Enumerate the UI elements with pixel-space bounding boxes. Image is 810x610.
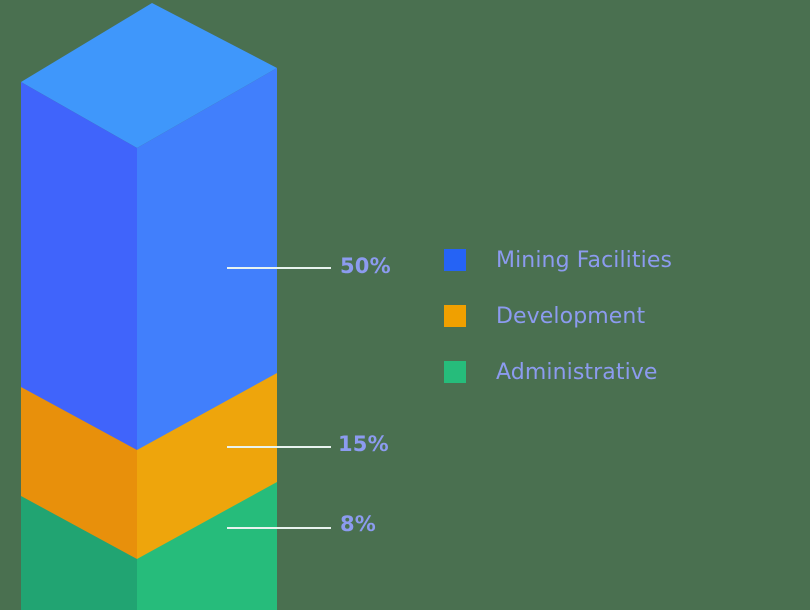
chart-canvas: 50% 15% 8% Mining Facilities Development… [0,0,810,610]
value-label-mining-facilities: 50% [340,254,391,278]
bar-segment-mining-facilities[interactable] [21,3,277,450]
legend-swatch-icon-administrative [444,361,466,383]
legend-item-mining-facilities[interactable]: Mining Facilities [444,232,672,288]
legend-item-development[interactable]: Development [444,288,672,344]
stacked-3d-bar-graphic [0,0,810,610]
legend-item-administrative[interactable]: Administrative [444,344,672,400]
legend-label-mining-facilities: Mining Facilities [496,248,672,273]
chart-legend: Mining Facilities Development Administra… [444,232,672,400]
legend-swatch-icon-development [444,305,466,327]
legend-label-development: Development [496,304,645,329]
legend-label-administrative: Administrative [496,360,658,385]
value-label-administrative: 8% [340,512,376,536]
legend-swatch-icon-mining-facilities [444,249,466,271]
value-label-development: 15% [338,432,389,456]
